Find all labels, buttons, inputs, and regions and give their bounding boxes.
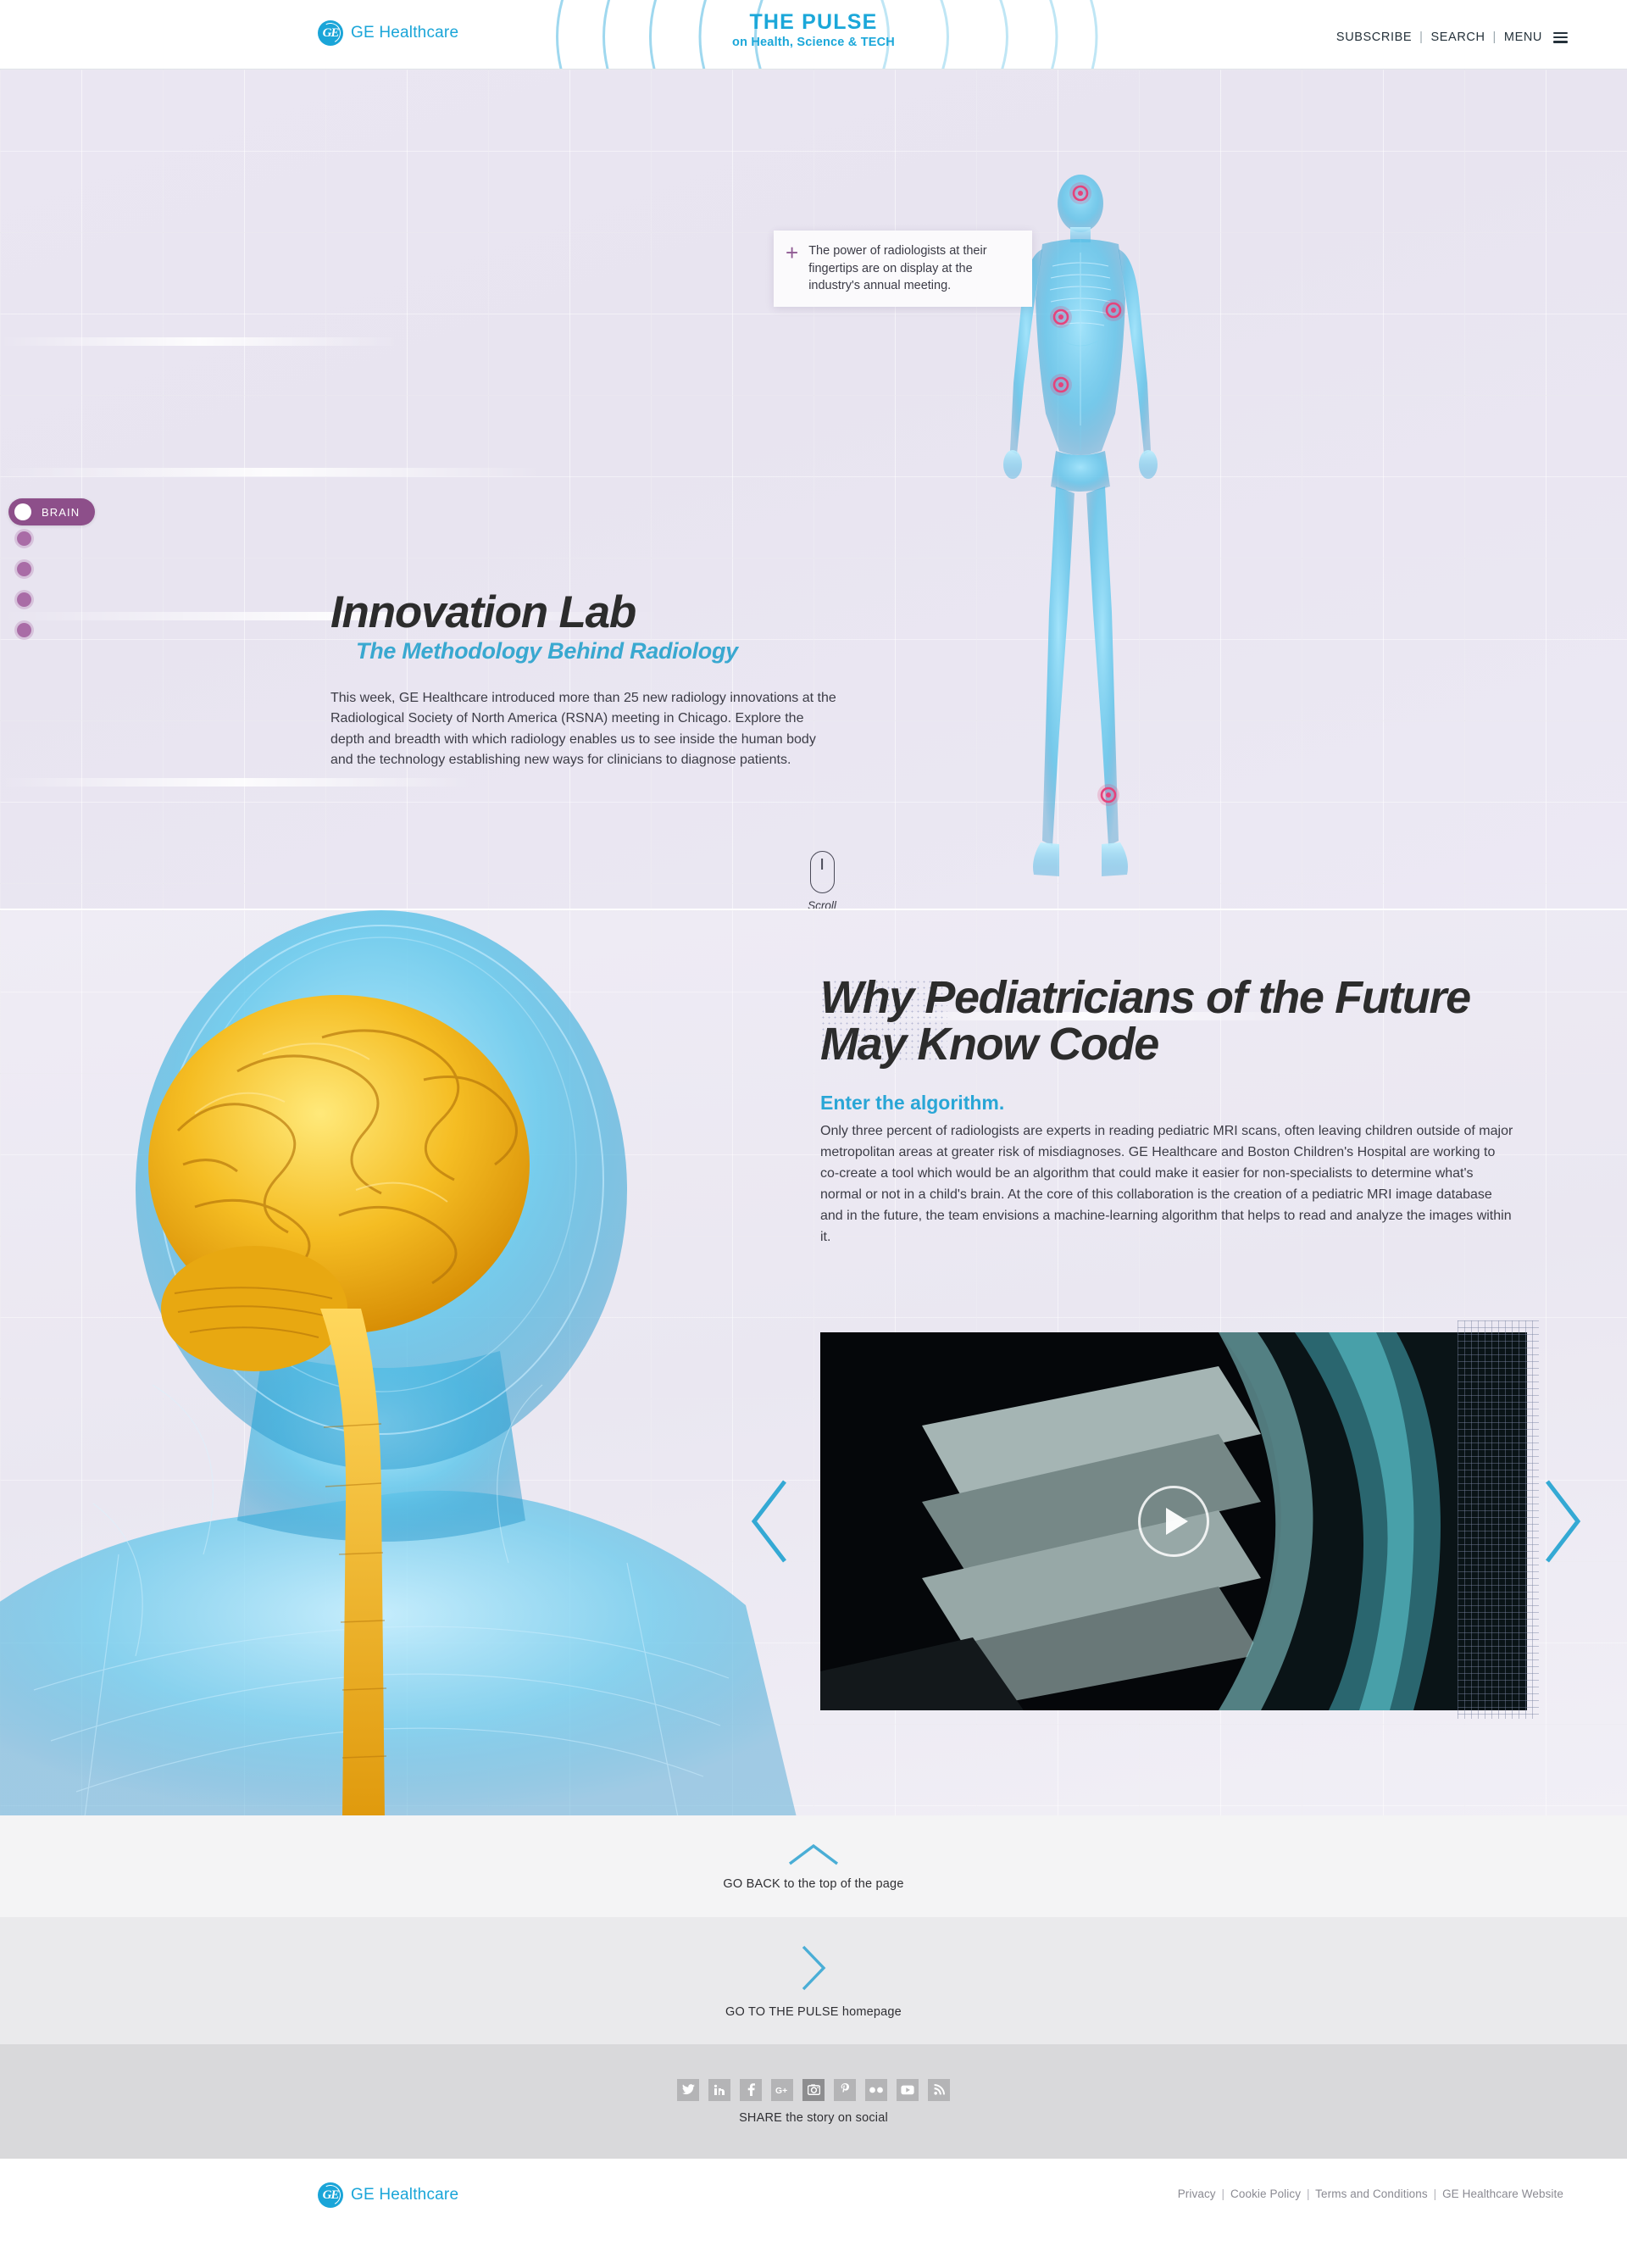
ge-brand-label-footer: GE Healthcare: [351, 2186, 458, 2204]
section2-title: Why Pediatricians of the Future May Know…: [820, 975, 1515, 1068]
share-label: SHARE the story on social: [739, 2111, 888, 2125]
ge-monogram-icon: GE: [318, 2182, 343, 2208]
badge-dot-icon: [14, 503, 31, 520]
hotspot-markers: [1050, 182, 1124, 806]
nav-dot[interactable]: [17, 562, 31, 576]
ge-healthcare-logo-header[interactable]: GE GE Healthcare: [318, 20, 458, 46]
play-triangle-icon: [1166, 1508, 1188, 1535]
pulse-wave-graphic: [525, 0, 1119, 69]
twitter-icon[interactable]: [677, 2079, 699, 2101]
carousel-next-button[interactable]: [1535, 1475, 1586, 1568]
go-back-band[interactable]: GO BACK to the top of the page: [0, 1815, 1627, 1917]
go-to-pulse-band[interactable]: GO TO THE PULSE homepage: [0, 1917, 1627, 2044]
hamburger-menu-icon[interactable]: [1553, 32, 1568, 43]
footer-link-terms[interactable]: Terms and Conditions: [1315, 2187, 1428, 2200]
footer-sep-2: |: [1307, 2187, 1310, 2200]
scroll-indicator[interactable]: Scroll: [797, 851, 847, 909]
section-nav-dots-hero[interactable]: [17, 531, 31, 637]
brain-organ: [148, 995, 530, 1371]
bg-streak: [0, 337, 398, 346]
nav-subscribe[interactable]: SUBSCRIBE: [1336, 31, 1412, 44]
hero-copy: Innovation Lab The Methodology Behind Ra…: [330, 590, 839, 770]
footer-sep-3: |: [1434, 2187, 1437, 2200]
social-icons-row: G+: [677, 2079, 950, 2101]
ge-brand-label: GE Healthcare: [351, 24, 458, 42]
hero-section: + The power of radiologists at their fin…: [0, 69, 1627, 909]
section2-body-text: Only three percent of radiologists are e…: [820, 1121, 1515, 1248]
plus-icon[interactable]: +: [786, 244, 798, 262]
chevron-right-icon: [1535, 1475, 1586, 1568]
nav-search[interactable]: SEARCH: [1431, 31, 1485, 44]
go-back-label: GO BACK to the top of the page: [723, 1877, 903, 1891]
facebook-icon[interactable]: [740, 2079, 762, 2101]
brain-badge-hero[interactable]: BRAIN: [8, 498, 95, 525]
header-nav: SUBSCRIBE | SEARCH | MENU: [1336, 31, 1568, 44]
footer-sep-1: |: [1222, 2187, 1225, 2200]
chevron-up-icon: [786, 1842, 841, 1867]
nav-dot[interactable]: [17, 531, 31, 546]
chevron-right-large-icon: [797, 1943, 830, 1993]
video-thumbnail[interactable]: [820, 1332, 1527, 1710]
play-button[interactable]: [1138, 1486, 1209, 1557]
brain-badge-label: BRAIN: [42, 506, 80, 519]
scroll-label: Scroll: [797, 899, 847, 909]
nav-separator-1: |: [1419, 31, 1423, 44]
section2-copy: Why Pediatricians of the Future May Know…: [820, 975, 1515, 1248]
rss-icon[interactable]: [928, 2079, 950, 2101]
ge-monogram-icon: GE: [318, 20, 343, 46]
nav-dot[interactable]: [17, 592, 31, 607]
google-plus-icon[interactable]: G+: [771, 2079, 793, 2101]
bg-streak: [0, 778, 475, 787]
page-root: GE GE Healthcare THE PULSE on Health, Sc…: [0, 0, 1627, 2268]
carousel-prev-button[interactable]: [746, 1475, 797, 1568]
nav-dot[interactable]: [17, 623, 31, 637]
chevron-left-icon: [746, 1475, 797, 1568]
social-share-band: G+ SHARE the story on social: [0, 2044, 1627, 2159]
linkedin-icon[interactable]: [708, 2079, 730, 2101]
brain-xray-artwork: [0, 910, 898, 1815]
section2-kicker: Enter the algorithm.: [820, 1092, 1515, 1115]
go-to-pulse-label: GO TO THE PULSE homepage: [725, 2005, 902, 2019]
footer-links: Privacy | Cookie Policy | Terms and Cond…: [1178, 2187, 1563, 2200]
youtube-icon[interactable]: [897, 2079, 919, 2101]
footer-link-cookie-policy[interactable]: Cookie Policy: [1230, 2187, 1301, 2200]
svg-text:G+: G+: [775, 2086, 787, 2094]
footer-bar: GE GE Healthcare Privacy | Cookie Policy…: [0, 2159, 1627, 2233]
mouse-icon: [810, 851, 835, 893]
bg-streak: [0, 468, 542, 476]
hero-body-text: This week, GE Healthcare introduced more…: [330, 688, 839, 770]
hotspot-callout[interactable]: + The power of radiologists at their fin…: [774, 231, 1032, 307]
footer-link-privacy[interactable]: Privacy: [1178, 2187, 1216, 2200]
nav-separator-2: |: [1493, 31, 1497, 44]
nav-menu[interactable]: MENU: [1504, 31, 1542, 44]
footer-link-ge-website[interactable]: GE Healthcare Website: [1442, 2187, 1563, 2200]
site-header: GE GE Healthcare THE PULSE on Health, Sc…: [0, 0, 1627, 69]
hero-subtitle: The Methodology Behind Radiology: [356, 638, 839, 664]
callout-text: The power of radiologists at their finge…: [808, 242, 1019, 295]
pinterest-icon[interactable]: [834, 2079, 856, 2101]
video-player[interactable]: [820, 1332, 1527, 1710]
hero-title: Innovation Lab: [330, 590, 839, 635]
instagram-icon[interactable]: [802, 2079, 825, 2101]
flickr-icon[interactable]: [865, 2079, 887, 2101]
ge-healthcare-logo-footer[interactable]: GE GE Healthcare: [318, 2182, 458, 2208]
